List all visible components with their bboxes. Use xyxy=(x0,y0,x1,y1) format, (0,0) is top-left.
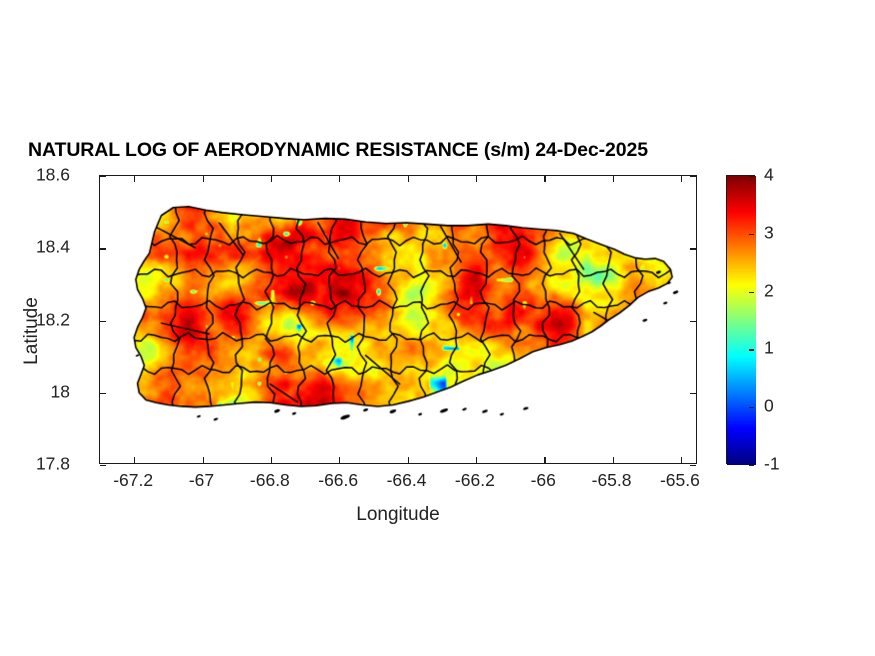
x-tick-label: -66.8 xyxy=(250,470,290,491)
colorbar-tick xyxy=(749,465,754,466)
y-tick xyxy=(100,465,106,466)
colorbar-tick-label: -1 xyxy=(764,454,780,475)
y-tick-label: 17.8 xyxy=(36,454,70,475)
x-tick-label: -66.4 xyxy=(387,470,427,491)
x-tick xyxy=(134,457,135,463)
x-tick xyxy=(203,457,204,463)
x-tick-label: -66 xyxy=(531,470,556,491)
y-tick xyxy=(100,393,106,394)
colorbar-tick-label: 3 xyxy=(764,222,774,243)
page-title: NATURAL LOG OF AERODYNAMIC RESISTANCE (s… xyxy=(28,139,648,162)
map-axes xyxy=(99,175,697,464)
y-tick-label: 18.6 xyxy=(36,165,70,186)
figure-canvas: NATURAL LOG OF AERODYNAMIC RESISTANCE (s… xyxy=(0,0,875,656)
colorbar-tick xyxy=(749,176,754,177)
x-tick-label: -65.8 xyxy=(592,470,632,491)
aerodynamic-resistance-heatmap xyxy=(100,176,696,463)
colorbar-tick xyxy=(749,234,754,235)
x-tick-label: -67 xyxy=(189,470,214,491)
y-axis-label: Latitude xyxy=(21,271,43,391)
y-tick-label: 18.4 xyxy=(36,237,70,258)
colorbar-gradient xyxy=(727,176,756,465)
x-tick-label: -66.6 xyxy=(318,470,358,491)
x-tick xyxy=(203,176,204,182)
colorbar-tick-label: 4 xyxy=(764,165,774,186)
colorbar-tick xyxy=(749,292,754,293)
x-tick xyxy=(681,457,682,463)
colorbar xyxy=(726,175,755,464)
colorbar-tick-label: 0 xyxy=(764,396,774,417)
x-tick xyxy=(681,176,682,182)
x-tick xyxy=(613,176,614,182)
x-axis-label: Longitude xyxy=(356,504,439,526)
x-tick xyxy=(134,176,135,182)
x-tick xyxy=(476,176,477,182)
x-tick xyxy=(271,457,272,463)
y-tick xyxy=(690,248,696,249)
x-tick-label: -66.2 xyxy=(455,470,495,491)
y-tick xyxy=(100,321,106,322)
x-tick xyxy=(408,176,409,182)
colorbar-tick xyxy=(749,407,754,408)
y-tick xyxy=(690,465,696,466)
colorbar-tick-label: 1 xyxy=(764,338,774,359)
x-tick xyxy=(544,457,545,463)
x-tick xyxy=(408,457,409,463)
x-tick-label: -67.2 xyxy=(113,470,153,491)
x-tick-label: -65.6 xyxy=(660,470,700,491)
y-tick xyxy=(100,176,106,177)
x-tick xyxy=(613,457,614,463)
colorbar-tick-label: 2 xyxy=(764,280,774,301)
y-tick xyxy=(690,176,696,177)
y-tick xyxy=(690,321,696,322)
x-tick xyxy=(544,176,545,182)
x-tick xyxy=(339,457,340,463)
x-tick xyxy=(271,176,272,182)
x-tick xyxy=(339,176,340,182)
colorbar-tick xyxy=(749,349,754,350)
y-tick xyxy=(690,393,696,394)
y-tick-label: 18 xyxy=(51,381,70,402)
x-tick xyxy=(476,457,477,463)
y-tick xyxy=(100,248,106,249)
